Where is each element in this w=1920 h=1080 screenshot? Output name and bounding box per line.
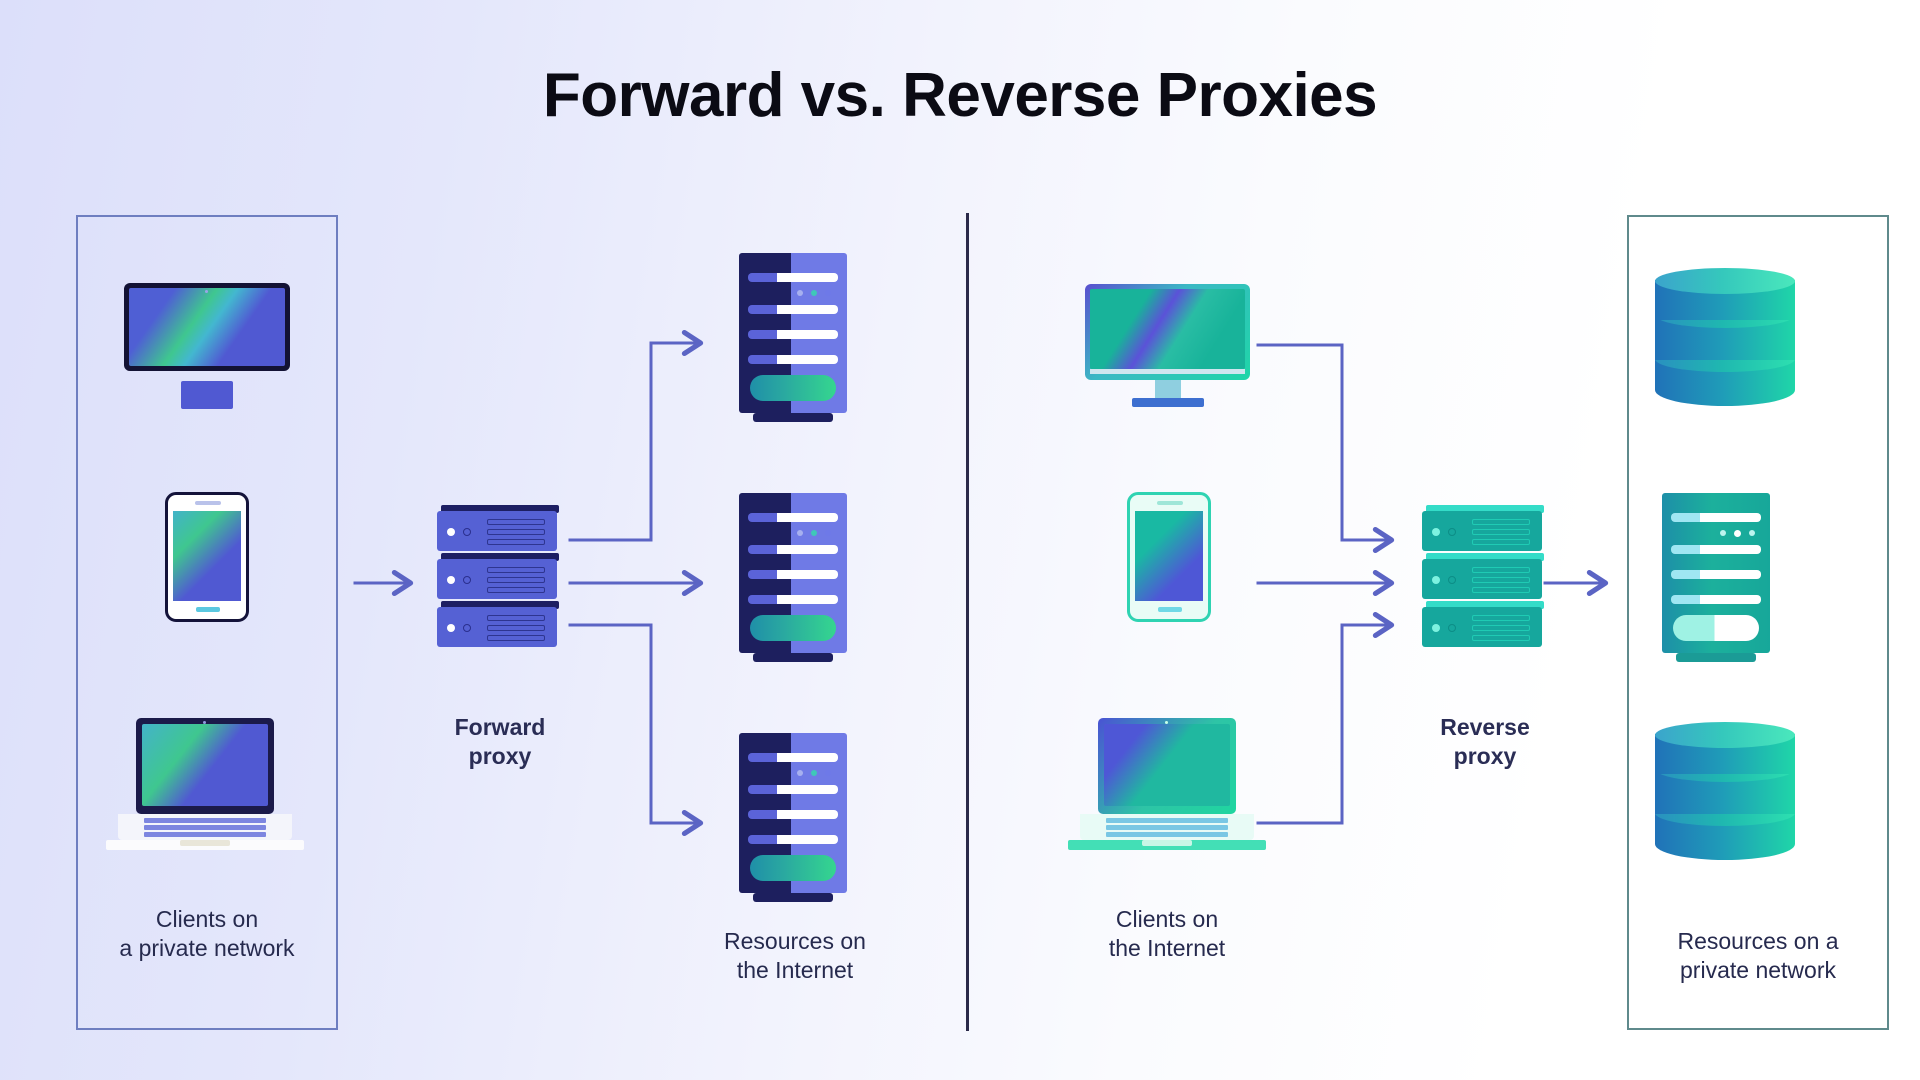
right-clients-caption-line2: the Internet: [1042, 934, 1292, 963]
private-resources-caption-line2: private network: [1627, 956, 1889, 985]
server-rack-icon-forward-proxy: [437, 505, 563, 655]
left-clients-caption-line1: Clients on: [76, 905, 338, 934]
right-clients-caption-line1: Clients on: [1042, 905, 1292, 934]
server-tower-icon-top: [735, 253, 851, 428]
smartphone-icon: [165, 492, 249, 622]
center-divider: [966, 213, 969, 1031]
laptop-icon-right: [1062, 718, 1272, 848]
forward-proxy-label-line1: Forward: [400, 713, 600, 742]
reverse-proxy-label-line2: proxy: [1385, 742, 1585, 771]
desktop-monitor-icon-right: [1085, 284, 1250, 406]
server-rack-icon-reverse-proxy: [1422, 505, 1548, 655]
internet-resources-caption-line1: Resources on: [670, 927, 920, 956]
server-tower-icon-middle: [735, 493, 851, 668]
reverse-proxy-label: Reverse proxy: [1385, 713, 1585, 772]
private-resources-caption-line1: Resources on a: [1627, 927, 1889, 956]
internet-resources-caption: Resources on the Internet: [670, 927, 920, 986]
server-tower-icon-private: [1658, 493, 1774, 668]
reverse-proxy-label-line1: Reverse: [1385, 713, 1585, 742]
page-title: Forward vs. Reverse Proxies: [0, 62, 1920, 130]
diagram-canvas: Forward vs. Reverse Proxies: [0, 0, 1920, 1080]
forward-proxy-label: Forward proxy: [400, 713, 600, 772]
smartphone-icon-right: [1127, 492, 1211, 622]
left-clients-caption-line2: a private network: [76, 934, 338, 963]
forward-proxy-label-line2: proxy: [400, 742, 600, 771]
left-clients-caption: Clients on a private network: [76, 905, 338, 964]
internet-resources-caption-line2: the Internet: [670, 956, 920, 985]
right-clients-caption: Clients on the Internet: [1042, 905, 1292, 964]
server-tower-icon-bottom: [735, 733, 851, 908]
laptop-icon: [100, 718, 310, 848]
desktop-monitor-icon: [124, 283, 290, 411]
private-resources-caption: Resources on a private network: [1627, 927, 1889, 986]
database-icon-bottom: [1655, 722, 1795, 867]
database-icon-top: [1655, 268, 1795, 413]
